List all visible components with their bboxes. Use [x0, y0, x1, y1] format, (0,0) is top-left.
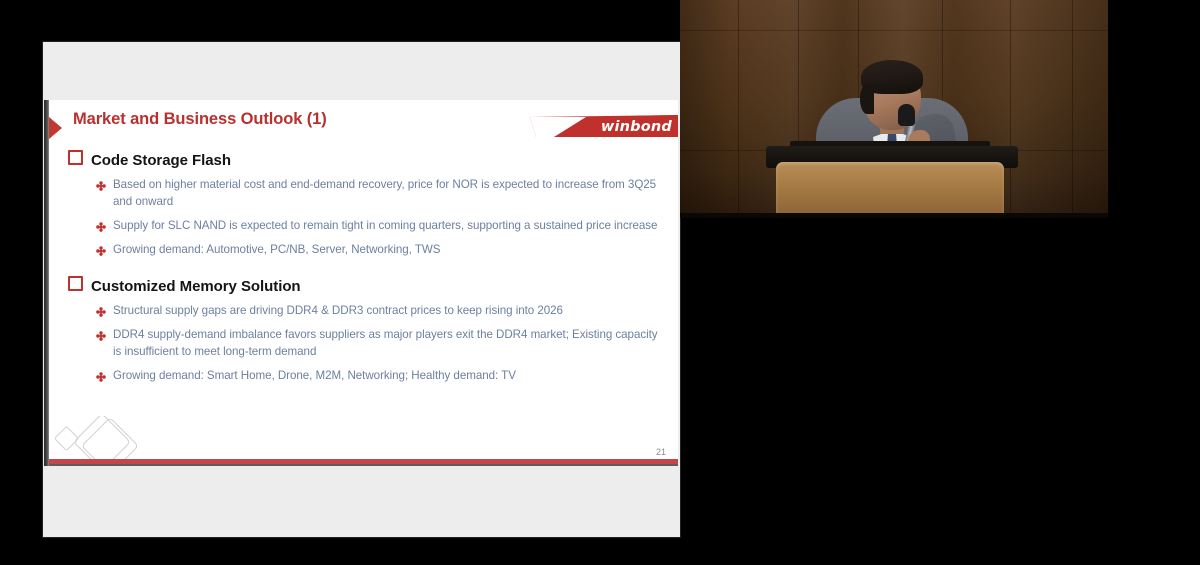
slide-section-customized-memory-solution: Customized Memory Solution Structural su… [68, 276, 666, 384]
wall-seam [738, 0, 739, 218]
bullet-text: Growing demand: Smart Home, Drone, M2M, … [113, 367, 516, 384]
winbond-logo-text: winbond [601, 119, 672, 135]
bullet-text: Structural supply gaps are driving DDR4 … [113, 302, 563, 319]
podium [776, 162, 1004, 218]
bullet-text: DDR4 supply-demand imbalance favors supp… [113, 326, 666, 360]
list-item: Structural supply gaps are driving DDR4 … [96, 302, 666, 319]
slide-body: Code Storage Flash Based on higher mater… [68, 150, 666, 391]
speaker-hair-side [860, 84, 874, 114]
slide-section-code-storage-flash: Code Storage Flash Based on higher mater… [68, 150, 666, 258]
shared-slide-region[interactable]: Market and Business Outlook (1) winbond … [43, 42, 680, 537]
bullet-list: Based on higher material cost and end-de… [96, 176, 666, 258]
winbond-logo: winbond [530, 115, 678, 143]
floret-bullet-icon [96, 243, 106, 257]
page-title: Market and Business Outlook (1) [73, 110, 327, 129]
floret-bullet-icon [96, 178, 106, 192]
wall-seam [1072, 0, 1073, 218]
section-heading: Code Storage Flash [68, 150, 666, 169]
bullet-text: Supply for SLC NAND is expected to remai… [113, 217, 657, 234]
list-item: Growing demand: Smart Home, Drone, M2M, … [96, 367, 666, 384]
corner-diamond-decoration [52, 416, 172, 462]
video-floor-edge [680, 213, 1108, 218]
microphone-icon [898, 104, 915, 126]
wall-seam [1010, 0, 1011, 218]
bullet-text: Based on higher material cost and end-de… [113, 176, 666, 210]
slide-content-card: Market and Business Outlook (1) winbond … [44, 100, 678, 466]
section-heading: Customized Memory Solution [68, 276, 666, 295]
section-heading-label: Customized Memory Solution [91, 278, 301, 295]
section-divider-space [68, 265, 666, 276]
slide-bottom-band [43, 465, 680, 537]
list-item: DDR4 supply-demand imbalance favors supp… [96, 326, 666, 360]
bullet-text: Growing demand: Automotive, PC/NB, Serve… [113, 241, 440, 258]
floret-bullet-icon [96, 219, 106, 233]
list-item: Based on higher material cost and end-de… [96, 176, 666, 210]
floret-bullet-icon [96, 304, 106, 318]
list-item: Growing demand: Automotive, PC/NB, Serve… [96, 241, 666, 258]
title-arrow-icon [49, 117, 62, 139]
slide-top-band [43, 42, 680, 100]
slide-title-row: Market and Business Outlook (1) winbond [49, 110, 678, 150]
floret-bullet-icon [96, 328, 106, 342]
square-bullet-icon [68, 276, 83, 291]
square-bullet-icon [68, 150, 83, 165]
card-left-rail [44, 100, 49, 466]
list-item: Supply for SLC NAND is expected to remai… [96, 217, 666, 234]
page-number: 21 [656, 447, 666, 457]
speaker-video-panel[interactable] [680, 0, 1108, 218]
section-heading-label: Code Storage Flash [91, 152, 231, 169]
wall-seam [680, 30, 1108, 31]
bullet-list: Structural supply gaps are driving DDR4 … [96, 302, 666, 384]
floret-bullet-icon [96, 369, 106, 383]
card-bottom-rule [49, 459, 678, 466]
